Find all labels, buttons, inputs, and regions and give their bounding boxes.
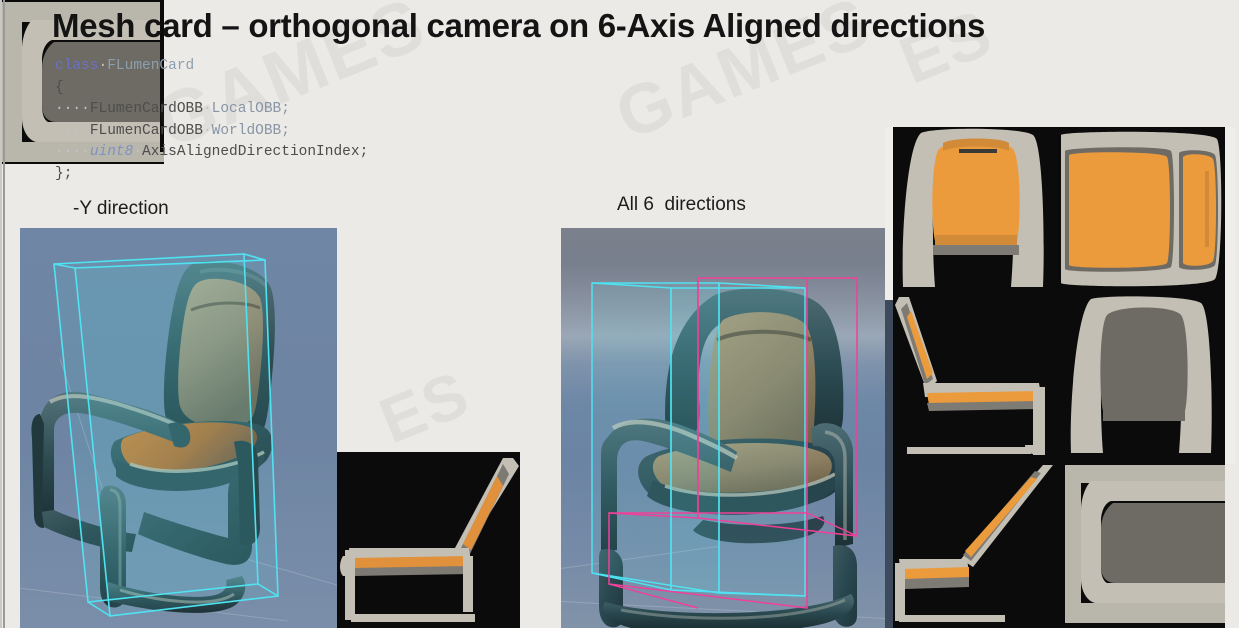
panel-separator-left-of-grid: [885, 300, 893, 628]
bounding-box-cyan: [20, 228, 337, 628]
code-token-member: WorldOBB;: [212, 123, 290, 139]
panel-separator-left-upper: [885, 127, 893, 300]
viewport-all-6-directions[interactable]: [561, 228, 893, 628]
card-side-view-right: [893, 463, 1059, 628]
code-token-type: FLumenCardOBB: [90, 123, 203, 139]
card-top-view: [1059, 127, 1225, 293]
code-token-indent: ····: [55, 123, 90, 139]
card-cell-side-right[interactable]: [893, 463, 1059, 628]
slide-title: Mesh card – orthogonal camera on 6-Axis …: [52, 4, 1172, 48]
code-token-member: LocalOBB;: [212, 101, 290, 117]
panel-separator-right: [1225, 127, 1235, 464]
caption-left-viewport: -Y direction: [73, 198, 169, 220]
viewport-minus-y[interactable]: [20, 228, 337, 628]
card-cell-top[interactable]: [1059, 127, 1225, 293]
code-token-brace-close: };: [55, 166, 72, 182]
code-token-keyword: class: [55, 58, 99, 74]
code-token-member: AxisAlignedDirectionIndex;: [142, 144, 368, 160]
card-back-view: [1061, 295, 1225, 461]
code-token-indent: ····: [55, 144, 90, 160]
card-capture-side-view: [337, 452, 520, 628]
card-cell-side-left[interactable]: [893, 295, 1059, 461]
card-front-view: [893, 127, 1053, 293]
code-token-dot: ·: [133, 144, 142, 160]
code-token-indent: ····: [55, 101, 90, 117]
card-cell-front[interactable]: [893, 127, 1053, 293]
code-token-primitive-type: uint8: [90, 144, 134, 160]
code-token-dot: ·: [203, 101, 212, 117]
card-cell-back[interactable]: [1061, 295, 1225, 461]
slide-frame-edge-outer: [0, 0, 2, 628]
card-captures-grid[interactable]: [893, 127, 1225, 628]
card-bottom-view: [1061, 463, 1225, 628]
code-token-dot: ·: [99, 58, 108, 74]
card-capture-minus-y[interactable]: [337, 452, 520, 628]
code-token-type: FLumenCardOBB: [90, 101, 203, 117]
watermark-text: ES: [369, 356, 480, 458]
code-token-type: FLumenCard: [107, 58, 194, 74]
card-cell-bottom[interactable]: [1061, 463, 1225, 628]
bounding-boxes-cyan-and-magenta: [561, 228, 893, 628]
code-token-brace-open: {: [55, 80, 64, 96]
code-block: class·FLumenCard { ····FLumenCardOBB·Loc…: [55, 56, 368, 185]
card-side-view-left: [893, 295, 1059, 461]
code-token-dot: ·: [203, 123, 212, 139]
slide-frame-edge-inner: [3, 0, 5, 628]
caption-right-viewport: All 6 directions: [617, 194, 746, 216]
slide-canvas: GAMES GAMES ES ES Mesh card – orthogonal…: [0, 0, 1239, 628]
